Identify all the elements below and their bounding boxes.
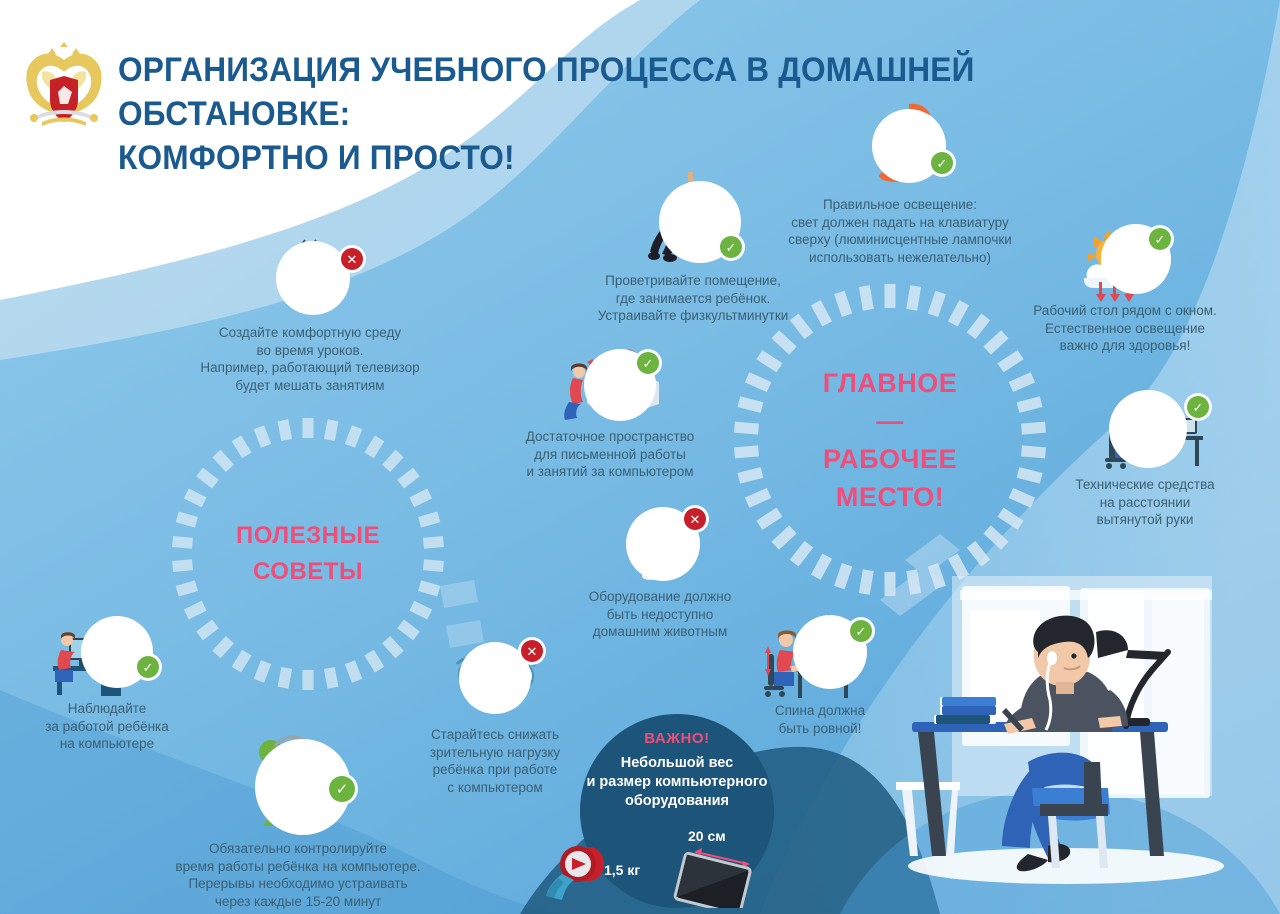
badge-not-allowed: ✕ (684, 508, 706, 530)
badge-allowed: ✓ (1187, 396, 1209, 418)
poster-header: ОРГАНИЗАЦИЯ УЧЕБНОГО ПРОЦЕССА В ДОМАШНЕЙ… (0, 0, 1280, 170)
tip-television: ✕ Создайте комфортную среду во время уро… (190, 232, 430, 394)
ring-useful-tips-label: ПОЛЕЗНЫЕ СОВЕТЫ (236, 518, 380, 590)
student-at-desk-illustration (852, 566, 1280, 914)
tip-window: ✓ Рабочий стол рядом с окном. Естественн… (985, 222, 1265, 355)
tip-time-limit-caption: Обязательно контролируйте время работы р… (148, 840, 448, 910)
tip-television-caption: Создайте комфортную среду во время уроко… (190, 324, 430, 394)
important-callout: ВАЖНО! Небольшой вес и размер компьютерн… (580, 714, 774, 908)
tip-eye-strain-caption: Старайтесь снижать зрительную нагрузку р… (400, 726, 590, 796)
badge-allowed: ✓ (931, 152, 953, 174)
infographic-poster: ОРГАНИЗАЦИЯ УЧЕБНОГО ПРОЦЕССА В ДОМАШНЕЙ… (0, 0, 1280, 914)
badge-allowed: ✓ (329, 776, 355, 802)
tip-arm-distance: ✓ Технические средства на расстоянии выт… (1040, 382, 1250, 529)
russian-federation-emblem-icon (22, 42, 106, 134)
badge-not-allowed: ✕ (341, 248, 363, 270)
badge-not-allowed: ✕ (521, 640, 543, 662)
badge-allowed: ✓ (637, 352, 659, 374)
tip-desk-space-caption: Достаточное пространство для письменной … (500, 428, 720, 481)
megaphone-icon (528, 826, 618, 906)
ring-main-workplace-label: ГЛАВНОЕ — РАБОЧЕЕ МЕСТО! (810, 364, 970, 516)
badge-allowed: ✓ (1149, 228, 1171, 250)
badge-allowed: ✓ (137, 656, 159, 678)
tip-eye-strain: ✕ Старайтесь снижать зрительную нагрузку… (400, 630, 590, 796)
tip-arm-distance-caption: Технические средства на расстоянии вытян… (1040, 476, 1250, 529)
tip-window-caption: Рабочий стол рядом с окном. Естественное… (985, 302, 1265, 355)
badge-allowed: ✓ (720, 236, 742, 258)
tip-ventilate-caption: Проветривайте помещение, где занимается … (548, 272, 838, 325)
tip-desk-space: ✓ Достаточное пространство для письменно… (500, 342, 720, 481)
